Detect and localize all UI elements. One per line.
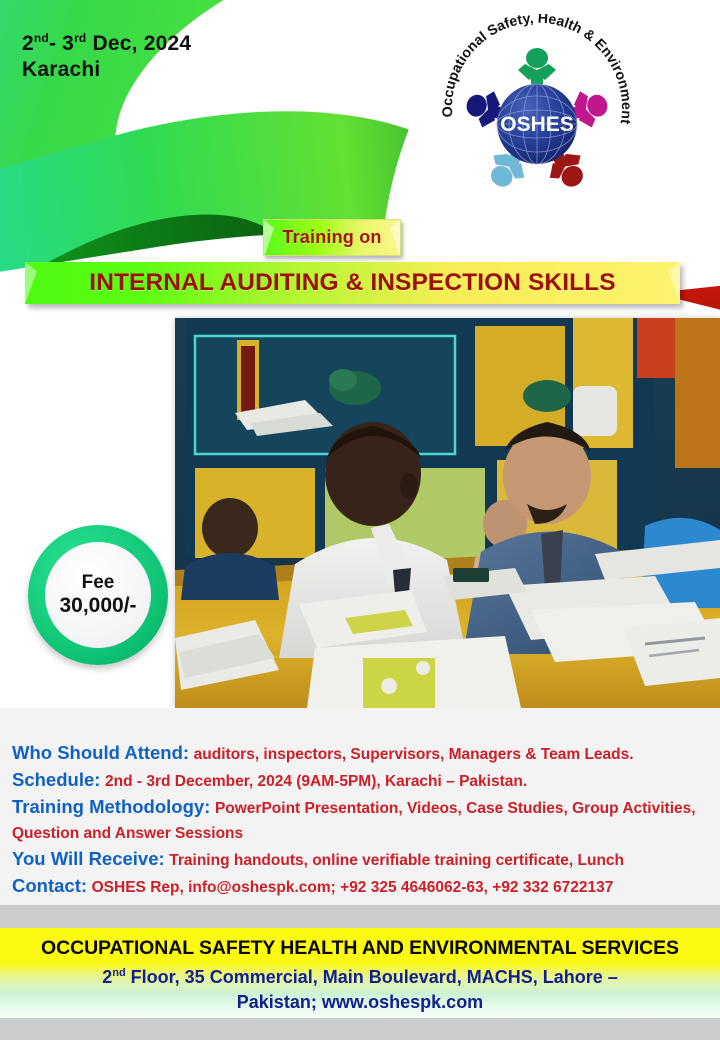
course-title: INTERNAL AUDITING & INSPECTION SKILLS: [25, 262, 680, 304]
event-date-monthyear: Dec, 2024: [86, 32, 191, 55]
detail-value-contact[interactable]: OSHES Rep, info@oshespk.com; +92 325 464…: [92, 879, 614, 896]
detail-row-methodology: Training Methodology: PowerPoint Present…: [12, 794, 708, 846]
event-date-day1: 2: [22, 32, 34, 55]
detail-value-deliverables: Training handouts, online verifiable tra…: [169, 852, 624, 869]
training-photo: [175, 318, 720, 708]
detail-label-deliverables: You Will Receive:: [12, 848, 165, 869]
course-title-banner: INTERNAL AUDITING & INSPECTION SKILLS: [25, 262, 680, 304]
detail-label-contact: Contact:: [12, 875, 87, 896]
footer-address-line1: Floor, 35 Commercial, Main Boulevard, MA…: [126, 967, 618, 987]
detail-label-methodology: Training Methodology:: [12, 796, 210, 817]
footer-band: OCCUPATIONAL SAFETY HEALTH AND ENVIRONME…: [0, 928, 720, 1018]
event-date-day2: - 3: [49, 32, 74, 55]
oshes-logo: Occupational Safety, Health & Environmen…: [432, 14, 642, 210]
detail-row-contact: Contact: OSHES Rep, info@oshespk.com; +9…: [12, 873, 708, 900]
footer-address-floor-number: 2: [102, 967, 112, 987]
detail-label-schedule: Schedule:: [12, 769, 100, 790]
event-date-ordinal1: nd: [34, 31, 49, 45]
event-date-location: 2nd- 3rd Dec, 2024 Karachi: [22, 25, 191, 83]
event-date-line: 2nd- 3rd Dec, 2024: [22, 25, 191, 57]
training-on-label: Training on: [264, 220, 400, 255]
footer-address-ordinal: nd: [112, 967, 125, 979]
detail-row-attendees: Who Should Attend: auditors, inspectors,…: [12, 740, 708, 767]
event-date-ordinal2: rd: [74, 31, 86, 45]
flyer-page: 2nd- 3rd Dec, 2024 Karachi Occupational …: [0, 0, 720, 1040]
svg-text:OSHES: OSHES: [500, 113, 574, 136]
footer-top-divider: [0, 905, 720, 928]
footer-organization-name: OCCUPATIONAL SAFETY HEALTH AND ENVIRONME…: [0, 936, 720, 960]
detail-row-schedule: Schedule: 2nd - 3rd December, 2024 (9AM-…: [12, 767, 708, 794]
course-details-section: Who Should Attend: auditors, inspectors,…: [0, 708, 720, 905]
fee-badge-inner: Fee 30,000/-: [45, 542, 151, 648]
detail-row-deliverables: You Will Receive: Training handouts, onl…: [12, 846, 708, 873]
detail-value-attendees: auditors, inspectors, Supervisors, Manag…: [194, 746, 634, 763]
fee-badge: Fee 30,000/-: [28, 525, 168, 665]
detail-value-schedule: 2nd - 3rd December, 2024 (9AM-5PM), Kara…: [105, 773, 527, 790]
footer-bottom-divider: [0, 1018, 720, 1040]
globe-icon: OSHES: [497, 84, 577, 164]
detail-label-attendees: Who Should Attend:: [12, 742, 189, 763]
footer-address: 2nd Floor, 35 Commercial, Main Boulevard…: [0, 960, 720, 1015]
footer-address-line2[interactable]: Pakistan; www.oshespk.com: [237, 992, 483, 1012]
fee-amount: 30,000/-: [59, 594, 136, 618]
training-on-badge: Training on: [263, 219, 401, 256]
event-city: Karachi: [22, 57, 191, 83]
fee-label: Fee: [82, 572, 115, 594]
